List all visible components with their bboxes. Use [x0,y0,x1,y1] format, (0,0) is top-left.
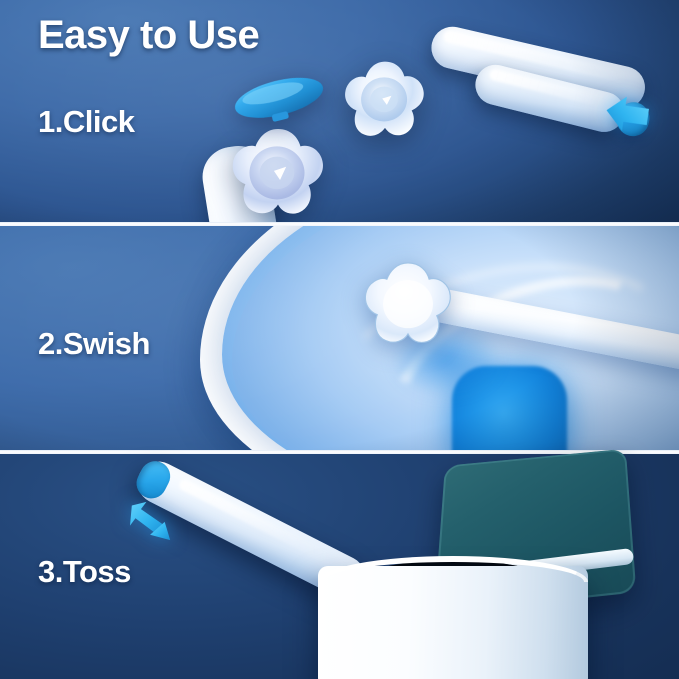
panel-step-2-swish: 2.Swish [0,226,679,450]
easy-to-use-infographic: Easy to Use 1.Click [0,0,679,679]
step-label-3: 3.Toss [38,554,131,590]
panel-step-1-click: Easy to Use 1.Click [0,0,679,222]
page-title: Easy to Use [38,13,259,58]
arrow-down-right-icon [128,500,174,542]
trash-can-white [318,566,588,679]
arrow-left-icon [601,92,652,138]
step-label-2: 2.Swish [38,326,150,362]
step-label-1: 1.Click [38,104,134,140]
